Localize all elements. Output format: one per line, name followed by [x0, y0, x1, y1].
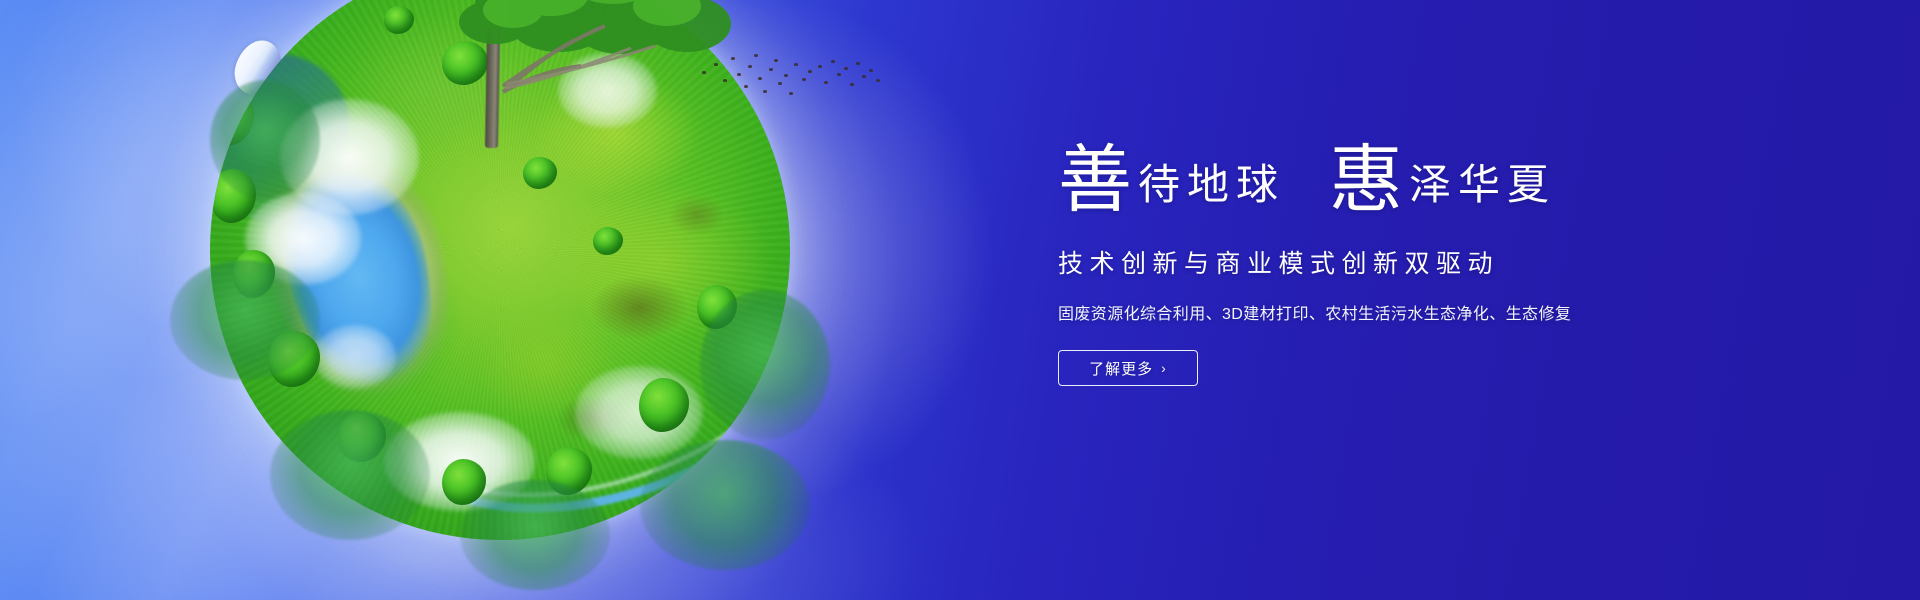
hero-subtitle: 技术创新与商业模式创新双驱动 — [1058, 244, 1698, 280]
globe-cloud — [314, 325, 395, 389]
page-title: 善 待地球 惠 泽华夏 — [1058, 140, 1698, 226]
learn-more-button[interactable]: 了解更多 › — [1058, 350, 1198, 386]
chevron-right-icon: › — [1161, 360, 1167, 376]
globe-tree-silhouette — [700, 290, 830, 440]
globe-tree-silhouette — [170, 260, 320, 380]
globe-tree-silhouette — [460, 480, 610, 590]
globe-tree-silhouette — [270, 410, 430, 540]
bird-flock-icon — [690, 45, 890, 115]
globe-cloud — [558, 53, 657, 128]
hero-banner: 善 待地球 惠 泽华夏 技术创新与商业模式创新双驱动 固废资源化综合利用、3D建… — [0, 0, 1920, 600]
globe-tree-silhouette — [640, 440, 810, 570]
hero-description: 固废资源化综合利用、3D建材打印、农村生活污水生态净化、生态修复 — [1058, 300, 1698, 324]
foreground-tree-trunk — [485, 28, 500, 148]
headline-char-shan: 善 — [1058, 144, 1132, 218]
headline-text-zehuaxia: 泽华夏 — [1409, 165, 1556, 207]
learn-more-label: 了解更多 — [1089, 358, 1153, 379]
headline-text-daidiqiu: 待地球 — [1138, 165, 1285, 207]
hero-copy: 善 待地球 惠 泽华夏 技术创新与商业模式创新双驱动 固废资源化综合利用、3D建… — [1058, 140, 1698, 386]
globe-tree-silhouette — [210, 80, 320, 200]
headline-char-hui: 惠 — [1329, 144, 1403, 218]
